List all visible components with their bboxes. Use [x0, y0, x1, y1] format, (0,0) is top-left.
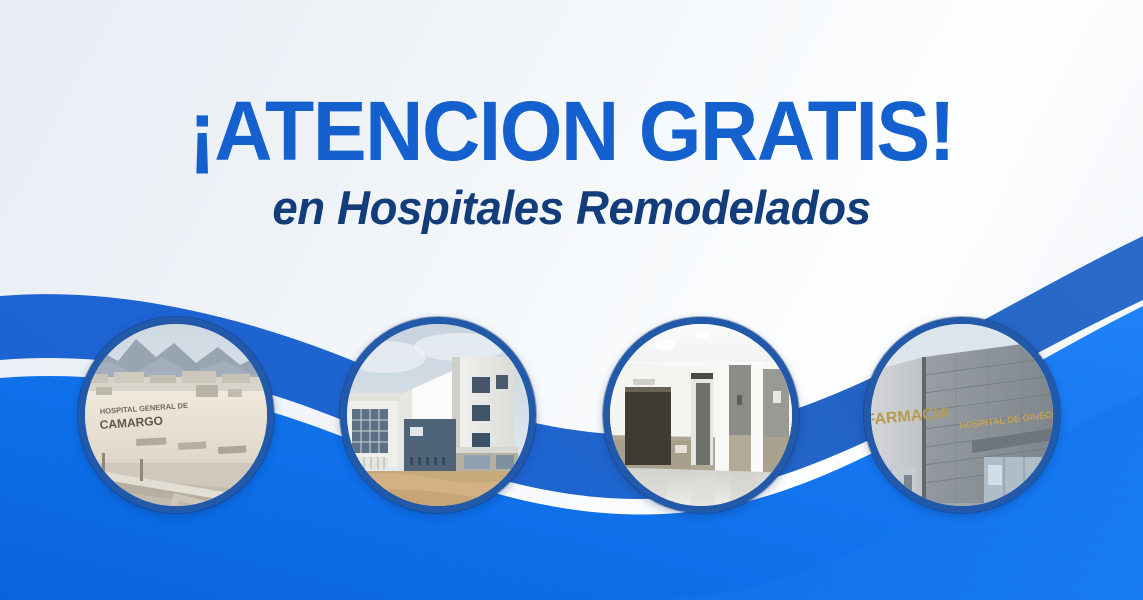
- photo-circle-hospital-moderno[interactable]: [340, 317, 536, 513]
- photo-circle-pasillo-interior[interactable]: [603, 317, 799, 513]
- photo-medallion-row: HOSPITAL GENERAL DE CAMARGO: [0, 0, 1143, 600]
- photo-image-pasillo: [603, 317, 799, 513]
- photo-image-camargo: HOSPITAL GENERAL DE CAMARGO: [78, 317, 274, 513]
- photo-image-gineco: FARMACIA HOSPITAL DE GINECO OBSTE: [864, 317, 1060, 513]
- photo-image-moderno: [340, 317, 536, 513]
- photo-circle-hospital-gineco-obstetricia[interactable]: FARMACIA HOSPITAL DE GINECO OBSTE: [864, 317, 1060, 513]
- promotional-banner: ¡ATENCION GRATIS! en Hospitales Remodela…: [0, 0, 1143, 600]
- photo-circle-hospital-general-camargo[interactable]: HOSPITAL GENERAL DE CAMARGO: [78, 317, 274, 513]
